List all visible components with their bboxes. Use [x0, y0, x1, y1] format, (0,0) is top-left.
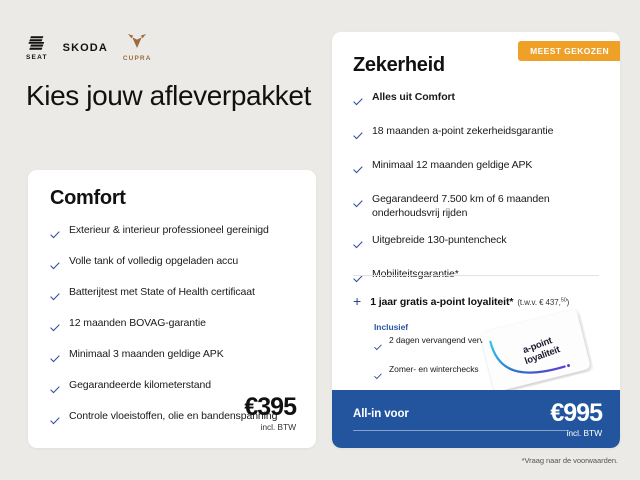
check-icon — [374, 367, 382, 385]
list-item: 18 maanden a-point zekerheidsgarantie — [353, 124, 603, 145]
package-card-comfort[interactable]: Comfort Exterieur & interieur profession… — [28, 170, 316, 448]
check-icon — [50, 226, 60, 244]
check-icon — [353, 270, 363, 288]
section-divider — [353, 275, 599, 276]
skoda-wordmark: SKODA — [63, 42, 108, 54]
disclaimer-text: *Vraag naar de voorwaarden. — [522, 456, 618, 465]
zekerheid-price-note: incl. BTW — [550, 428, 602, 438]
zekerheid-price-block: €995 incl. BTW — [550, 400, 602, 438]
check-icon — [50, 412, 60, 430]
comfort-price-note: incl. BTW — [244, 422, 296, 432]
list-item-label: Batterijtest met State of Health certifi… — [69, 285, 255, 299]
list-item: Uitgebreide 130-puntencheck — [353, 233, 603, 254]
check-icon — [353, 127, 363, 145]
check-icon — [50, 288, 60, 306]
bonus-value-suffix: ) — [567, 298, 570, 307]
zekerheid-title: Zekerheid — [353, 54, 445, 77]
list-item-label: Alles uit Comfort — [372, 90, 455, 104]
page-title: Kies jouw afleverpakket — [26, 79, 326, 113]
offer-page: SEAT SKODA CUPRA Kies jouw afleverpakket… — [0, 0, 640, 480]
bonus-label: 1 jaar gratis a-point loyaliteit* — [370, 296, 513, 308]
list-item-label: Exterieur & interieur professioneel gere… — [69, 223, 269, 237]
allin-label: All-in voor — [353, 408, 409, 420]
check-icon — [50, 381, 60, 399]
check-icon — [353, 195, 363, 213]
list-item: Volle tank of volledig opgeladen accu — [50, 254, 300, 275]
zekerheid-feature-list: Alles uit Comfort 18 maanden a-point zek… — [353, 90, 603, 301]
seat-logo: SEAT — [26, 35, 48, 61]
bonus-value: (t.w.v. € 437,50) — [517, 298, 569, 307]
status-badge: MEEST GEKOZEN — [518, 41, 620, 61]
bonus-row: + 1 jaar gratis a-point loyaliteit*(t.w.… — [353, 292, 569, 310]
list-item-label: Mobiliteitsgarantie* — [372, 267, 459, 281]
bonus-value-prefix: (t.w.v. € 437, — [517, 298, 560, 307]
price-footer-bar: All-in voor €995 incl. BTW — [332, 390, 620, 448]
footer-rule — [353, 430, 569, 431]
list-item: Minimaal 12 maanden geldige APK — [353, 158, 603, 179]
skoda-logo: SKODA — [63, 42, 108, 54]
list-item-label: Uitgebreide 130-puntencheck — [372, 233, 506, 247]
list-item-label: Gegarandeerd 7.500 km of 6 maanden onder… — [372, 192, 603, 220]
cupra-logo: CUPRA — [123, 33, 152, 62]
list-item-label: Zomer- en winterchecks — [389, 364, 479, 375]
check-icon — [353, 161, 363, 179]
list-item-label: Minimaal 12 maanden geldige APK — [372, 158, 532, 172]
seat-emblem-icon — [28, 35, 46, 53]
list-item-label: 18 maanden a-point zekerheidsgarantie — [372, 124, 553, 138]
list-item-label: Minimaal 3 maanden geldige APK — [69, 347, 224, 361]
check-icon — [50, 350, 60, 368]
cupra-wordmark: CUPRA — [123, 55, 152, 62]
check-icon — [50, 319, 60, 337]
list-item: Minimaal 3 maanden geldige APK — [50, 347, 300, 368]
cupra-emblem-icon — [127, 33, 147, 54]
list-item: Batterijtest met State of Health certifi… — [50, 285, 300, 306]
comfort-price-block: €395 incl. BTW — [244, 394, 296, 432]
list-item: Exterieur & interieur professioneel gere… — [50, 223, 300, 244]
list-item: 12 maanden BOVAG-garantie — [50, 316, 300, 337]
check-icon — [374, 338, 382, 356]
plus-icon: + — [353, 295, 361, 307]
comfort-price-amount: €395 — [244, 394, 296, 421]
seat-wordmark: SEAT — [26, 54, 48, 61]
list-item: Gegarandeerd 7.500 km of 6 maanden onder… — [353, 192, 603, 220]
check-icon — [353, 236, 363, 254]
list-item: Mobiliteitsgarantie* — [353, 267, 603, 288]
inclusief-heading: Inclusief — [374, 322, 408, 332]
package-card-zekerheid[interactable]: MEEST GEKOZEN Zekerheid Alles uit Comfor… — [332, 32, 620, 448]
list-item: Alles uit Comfort — [353, 90, 603, 111]
check-icon — [353, 93, 363, 111]
list-item-label: Gegarandeerde kilometerstand — [69, 378, 211, 392]
check-icon — [50, 257, 60, 275]
brand-logo-row: SEAT SKODA CUPRA — [26, 33, 152, 62]
zekerheid-price-amount: €995 — [550, 400, 602, 427]
comfort-title: Comfort — [50, 187, 126, 210]
list-item-label: 12 maanden BOVAG-garantie — [69, 316, 206, 330]
list-item-label: Volle tank of volledig opgeladen accu — [69, 254, 238, 268]
